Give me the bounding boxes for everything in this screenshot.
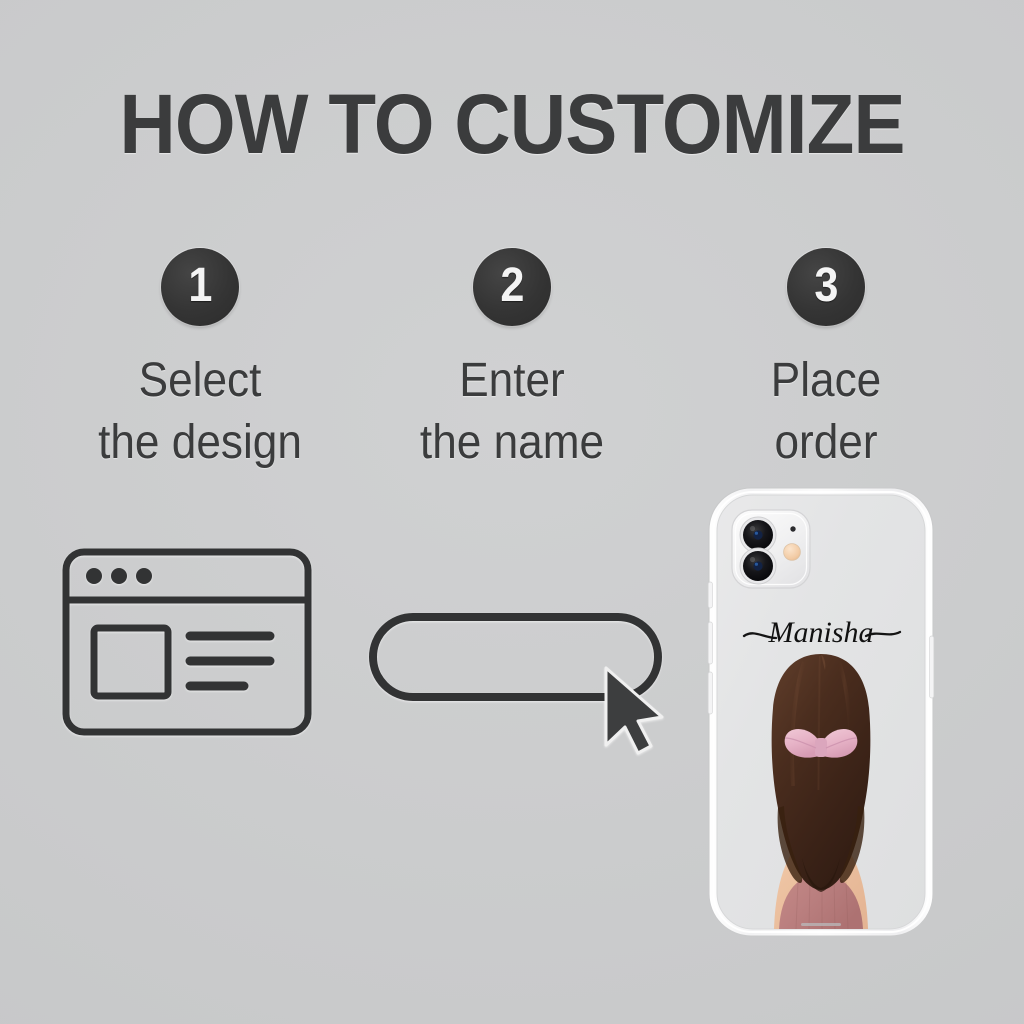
page-title: HOW TO CUSTOMIZE [36,76,988,172]
bottom-speaker [801,923,841,926]
step-3-number: 3 [814,262,838,310]
browser-frame [66,552,308,732]
step-2-number-badge: 2 [473,248,551,326]
browser-image-placeholder [94,628,168,696]
step-2-label: Enter the name [374,350,650,474]
browser-dot-1 [86,568,102,584]
how-to-customize-graphic: HOW TO CUSTOMIZE 1 Select the design 2 E… [0,0,1024,1024]
camera-lens-bottom [740,548,776,584]
step-2-number: 2 [500,262,524,310]
side-button-volume-up[interactable] [708,622,712,664]
step-1-number-badge: 1 [161,248,239,326]
step-1-label: Select the design [62,350,338,474]
side-button-power[interactable] [930,636,934,698]
browser-dot-2 [111,568,127,584]
step-1-number: 1 [188,262,212,310]
browser-window-icon [62,548,312,736]
side-button-mute[interactable] [708,582,712,608]
step-3-number-badge: 3 [787,248,865,326]
text-input-field-icon [368,612,668,757]
phone-case-preview: Manisha [706,486,936,938]
artwork-girl-illustration [772,654,871,929]
camera-module [732,510,810,588]
camera-flash [784,544,801,561]
step-2: 2 Enter the name [362,248,662,474]
microphone-dot [790,526,795,531]
step-3: 3 Place order [676,248,976,474]
browser-dot-3 [136,568,152,584]
step-3-label: Place order [688,350,964,474]
custom-name-label: Manisha [768,616,874,649]
side-button-volume-down[interactable] [708,672,712,714]
step-1: 1 Select the design [50,248,350,474]
